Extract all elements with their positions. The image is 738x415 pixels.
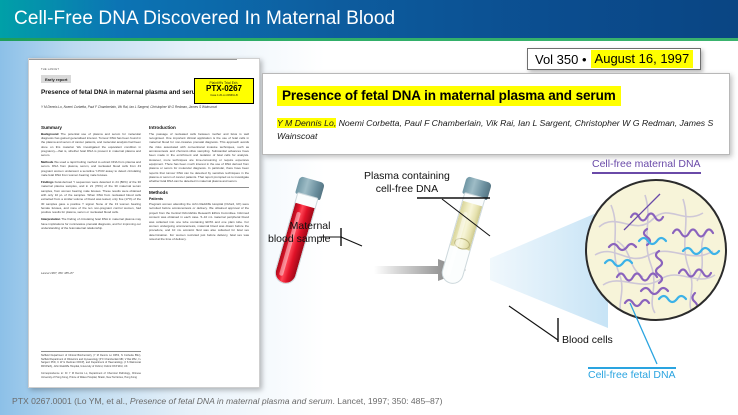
paper-methods-heading: Methods bbox=[149, 187, 249, 195]
blood-separation-diagram: Maternal blood sample Plasma containing … bbox=[262, 158, 738, 383]
other-authors: Noemi Corbetta, Paul F Chamberlain, Vik … bbox=[277, 118, 713, 141]
page-title: Cell-Free DNA Discovered In Maternal Blo… bbox=[14, 8, 395, 30]
paper-authors: Y M Dennis Lo, Noemi Corbetta, Paul F Ch… bbox=[41, 105, 246, 110]
footnote-article-title: Presence of fetal DNA in maternal plasma… bbox=[130, 396, 333, 406]
paper-early-report-badge: Early report bbox=[41, 75, 71, 83]
text-background: The potential use of plasma and serum fo… bbox=[41, 132, 141, 158]
article-callout-card: Presence of fetal DNA in maternal plasma… bbox=[262, 73, 730, 155]
header-accent-stripe bbox=[0, 38, 738, 41]
paper-introduction-heading: Introduction bbox=[149, 125, 249, 130]
article-author-list: Y M Dennis Lo, Noemi Corbetta, Paul F Ch… bbox=[277, 117, 723, 144]
sticker-exhibit-number: PTX-0267 bbox=[195, 85, 253, 94]
paper-summary-findings: Findings Fetal-derived Y sequences were … bbox=[41, 180, 141, 215]
sticker-case-number: Case 1:20-cv-00969-LB bbox=[195, 94, 253, 97]
footnote-suffix: . Lancet, 1997; 350: 485–87) bbox=[333, 396, 443, 406]
volume-label: Vol 350 • bbox=[535, 52, 587, 67]
paper-summary-heading: Summary bbox=[41, 125, 141, 130]
label-maternal-blood-sample: Maternal blood sample bbox=[268, 220, 330, 246]
exhibit-sticker: Plaintiff's Trial Exh. PTX-0267 Case 1:2… bbox=[194, 78, 254, 104]
cfm-underline bbox=[592, 172, 701, 174]
paper-left-column: Summary Background The potential use of … bbox=[41, 121, 141, 233]
paper-summary-background: Background The potential use of plasma a… bbox=[41, 132, 141, 158]
label-blood-cells: Blood cells bbox=[562, 334, 613, 347]
volume-date-box: Vol 350 • August 16, 1997 bbox=[527, 48, 701, 70]
cff-label-text: Cell-free fetal DNA bbox=[588, 369, 676, 381]
paper-patients-heading: Patients bbox=[149, 197, 249, 201]
paper-summary-methods: Methods We used a rapid boiling method t… bbox=[41, 160, 141, 177]
footnote-prefix: PTX 0267.0001 (Lo YM, et al., bbox=[12, 396, 130, 406]
paper-journal-line: THE LANCET bbox=[41, 68, 59, 71]
cfm-label-text: Cell-free maternal DNA bbox=[592, 158, 701, 170]
label-leader-lines bbox=[262, 158, 738, 383]
plasma-label-line-2: cell-free DNA bbox=[376, 183, 438, 195]
paper-affiliations: Nuffield Department of Clinical Biochemi… bbox=[41, 351, 141, 379]
paper-citation: Lancet 1997; 350: 485–87 bbox=[41, 271, 74, 275]
paper-summary-interpretation: Interpretation The finding of circulatin… bbox=[41, 217, 141, 230]
label-cell-free-maternal-dna: Cell-free maternal DNA bbox=[592, 158, 701, 174]
paper-right-column: Introduction The passage of nucleated ce… bbox=[149, 121, 249, 244]
publication-date: August 16, 1997 bbox=[591, 50, 694, 68]
text-methods: We used a rapid boiling method to extrac… bbox=[41, 160, 141, 177]
maternal-label-line-1: Maternal bbox=[290, 220, 331, 232]
label-cell-free-fetal-dna: Cell-free fetal DNA bbox=[588, 366, 676, 382]
first-author-highlight: Y M Dennis Lo, bbox=[277, 118, 336, 128]
text-findings: Fetal-derived Y sequences were detected … bbox=[41, 180, 141, 214]
affiliations-text: Nuffield Department of Clinical Biochemi… bbox=[41, 354, 141, 368]
correspondence-text: Correspondence to: Dr Y M Dennis Lo, Dep… bbox=[41, 372, 141, 379]
plasma-label-line-1: Plasma containing bbox=[364, 170, 450, 182]
source-citation-footnote: PTX 0267.0001 (Lo YM, et al., Presence o… bbox=[12, 396, 442, 406]
paper-patients-text: Pregnant women attending the John Radcli… bbox=[149, 202, 249, 241]
maternal-label-line-2: blood sample bbox=[268, 233, 330, 245]
paper-introduction-text: The passage of nucleated cells between m… bbox=[149, 132, 249, 184]
journal-article-scan: THE LANCET Early report Presence of feta… bbox=[28, 58, 260, 388]
paper-divider bbox=[29, 59, 237, 60]
slide-canvas: Cell-Free DNA Discovered In Maternal Blo… bbox=[0, 0, 738, 415]
article-title-highlight: Presence of fetal DNA in maternal plasma… bbox=[277, 86, 621, 106]
label-plasma-containing-cellfree-dna: Plasma containing cell-free DNA bbox=[364, 170, 450, 196]
